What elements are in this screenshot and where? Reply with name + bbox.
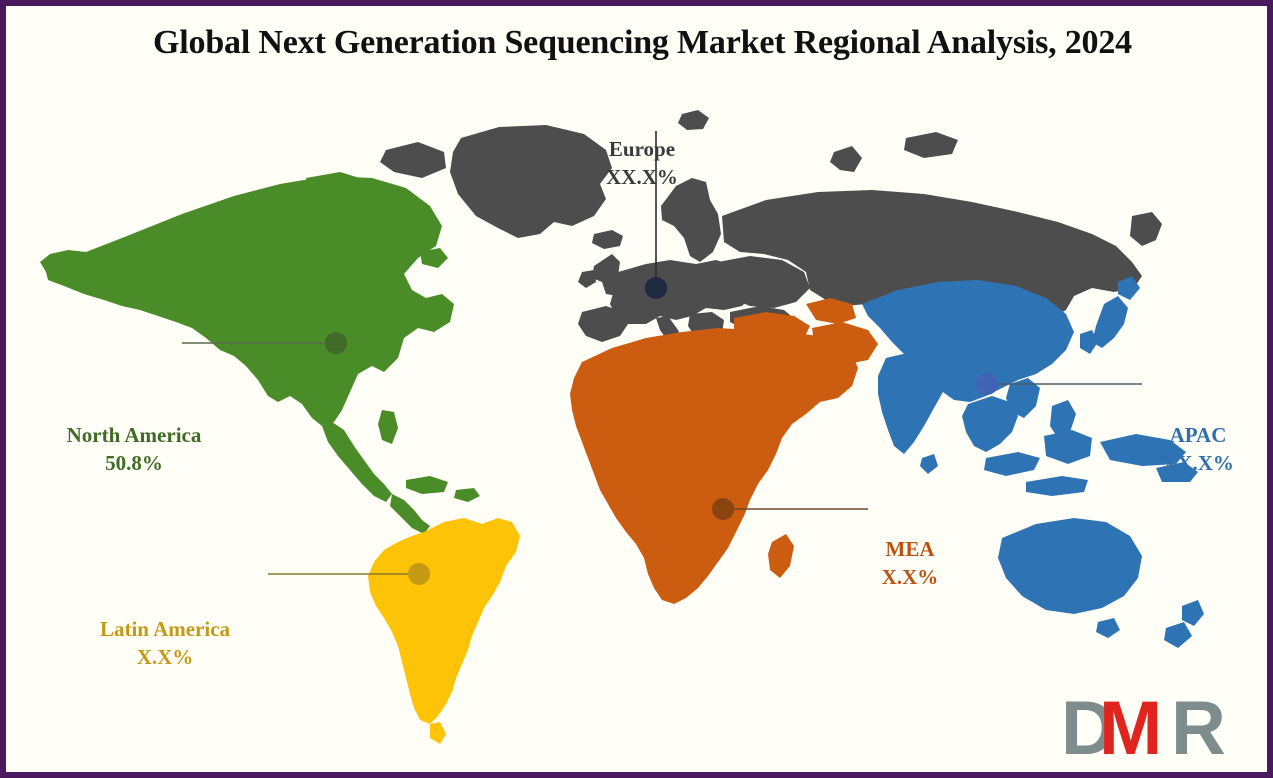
south-america-tip-shape [430, 722, 446, 744]
infographic-root: Global Next Generation Sequencing Market… [0, 0, 1273, 778]
marker-europe[interactable] [645, 277, 667, 299]
caribbean-cuba-shape [406, 476, 448, 494]
novaya-zemlya-shape [830, 146, 862, 172]
kamchatka-shape [1130, 212, 1162, 246]
sri-lanka-shape [920, 454, 938, 474]
canada-arctic-island-shape [380, 142, 446, 178]
region-name-north-america: North America [67, 423, 202, 447]
florida-shape [378, 410, 398, 444]
tasmania-shape [1096, 618, 1120, 638]
logo-letter-m: M [1099, 688, 1162, 764]
indonesia-java-shape [1026, 476, 1088, 496]
new-zealand-south-shape [1164, 622, 1192, 648]
region-name-apac: APAC [1170, 423, 1227, 447]
japan-shape [1092, 296, 1128, 348]
dmr-logo: D R M [1059, 688, 1249, 764]
region-value-apac: XX.X% [1124, 450, 1272, 478]
region-value-mea: X.X% [836, 564, 984, 592]
central-america-shape [390, 494, 430, 534]
ireland-shape [578, 270, 596, 288]
marker-apac[interactable] [976, 373, 998, 395]
region-name-europe: Europe [609, 137, 675, 161]
madagascar-shape [768, 534, 794, 578]
region-shape-mea [570, 298, 878, 604]
world-map: North America 50.8% Europe XX.X% APAC XX… [6, 66, 1267, 766]
south-america-shape [368, 518, 520, 724]
region-label-apac: APAC XX.X% [1124, 422, 1272, 478]
region-shape-north-america [40, 172, 480, 534]
logo-letter-r: R [1171, 688, 1226, 764]
region-value-europe: XX.X% [559, 164, 725, 192]
arctic-islands-shape [904, 132, 958, 158]
region-label-europe: Europe XX.X% [559, 136, 725, 192]
region-name-mea: MEA [886, 537, 935, 561]
page-title: Global Next Generation Sequencing Market… [6, 24, 1273, 62]
new-zealand-north-shape [1182, 600, 1204, 626]
hispaniola-shape [454, 488, 480, 502]
region-name-latin-america: Latin America [100, 617, 230, 641]
india-shape [878, 352, 948, 454]
borneo-shape [1044, 430, 1092, 464]
iceland-shape [592, 230, 623, 249]
indonesia-sumatra-shape [984, 452, 1040, 476]
marker-north-america[interactable] [325, 332, 347, 354]
north-america-mainland-shape [46, 176, 454, 426]
iberia-shape [578, 306, 628, 342]
region-label-mea: MEA X.X% [836, 536, 984, 592]
region-shape-latin-america [368, 518, 520, 744]
region-label-latin-america: Latin America X.X% [54, 616, 276, 672]
marker-latin-america[interactable] [408, 563, 430, 585]
region-value-latin-america: X.X% [54, 644, 276, 672]
region-value-north-america: 50.8% [22, 450, 246, 478]
region-label-north-america: North America 50.8% [22, 422, 246, 478]
marker-mea[interactable] [712, 498, 734, 520]
svalbard-shape [678, 110, 709, 130]
australia-shape [998, 518, 1142, 614]
